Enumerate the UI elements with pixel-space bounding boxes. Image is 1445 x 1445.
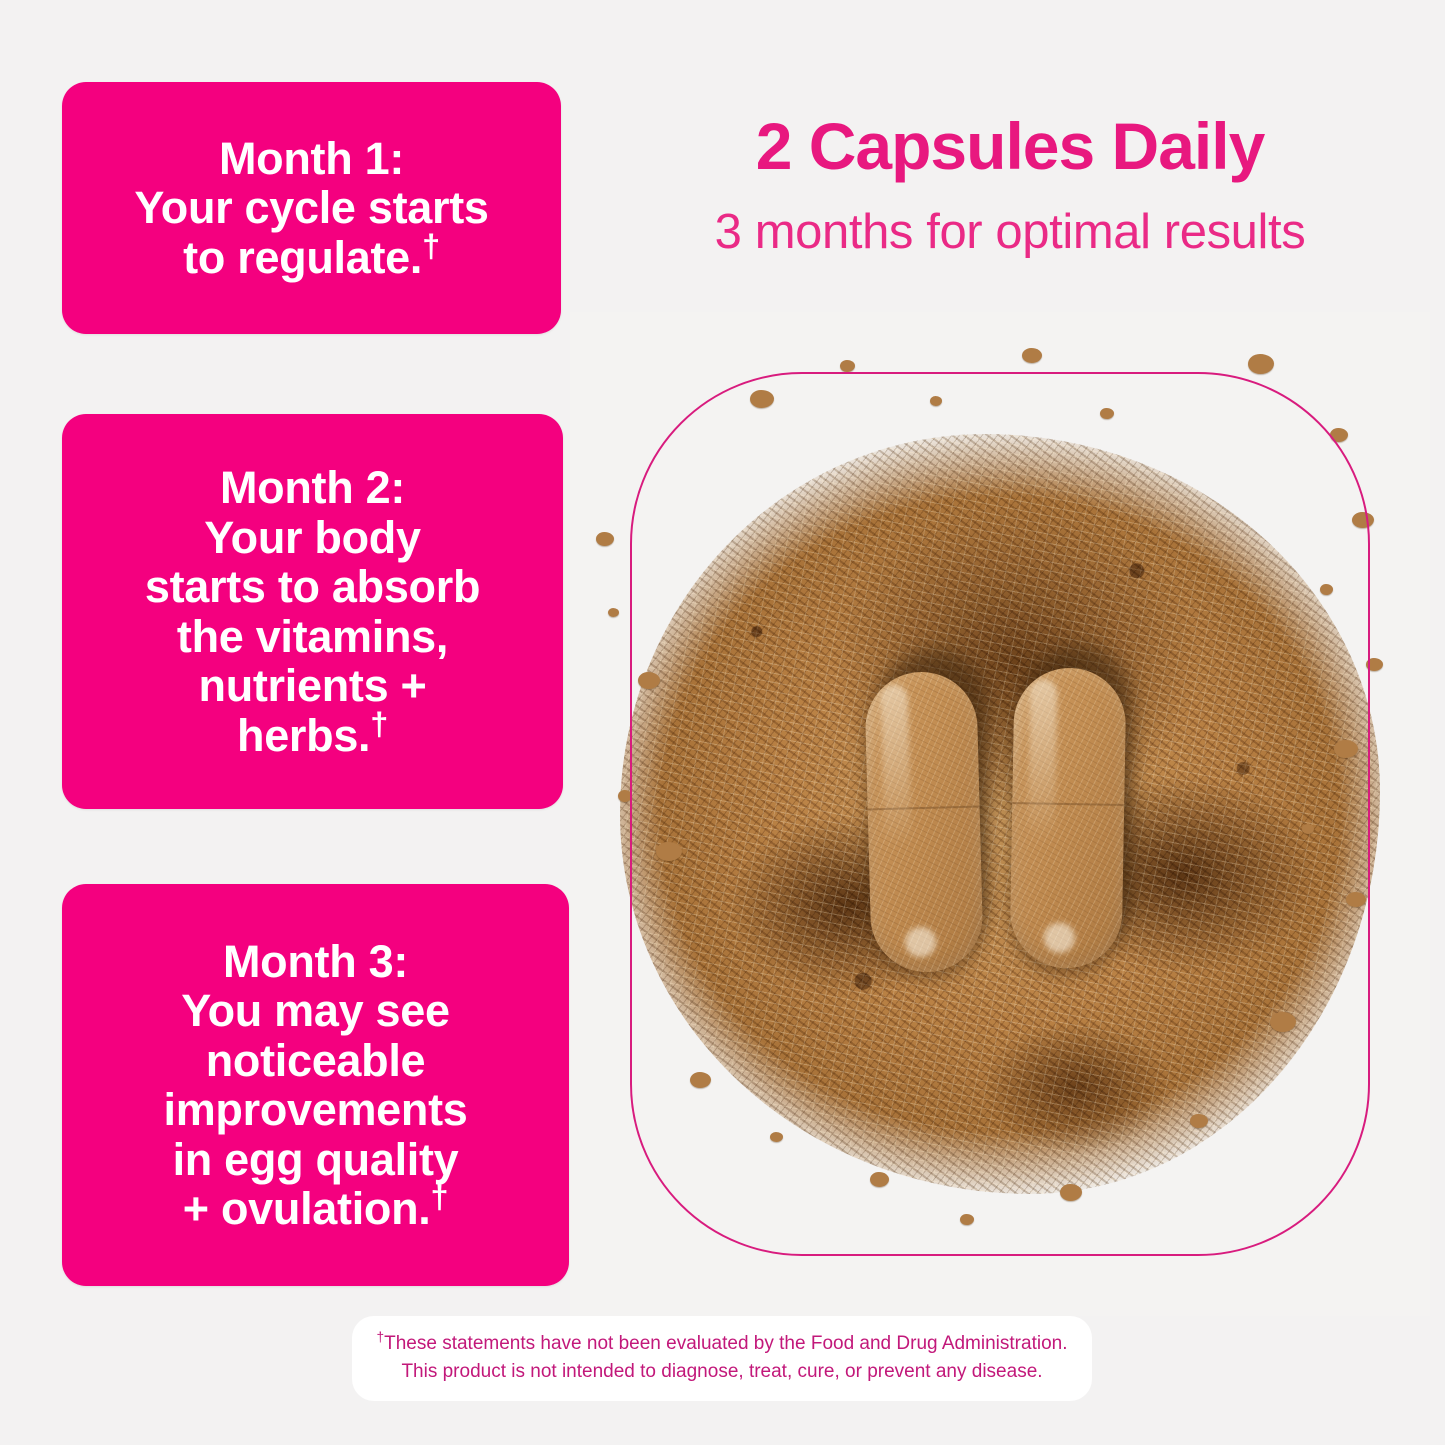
dagger-icon: † — [430, 1179, 448, 1215]
month-1-card: Month 1: Your cycle starts to regulate.† — [62, 82, 561, 334]
product-photo — [630, 372, 1370, 1256]
capsule-highlight — [1027, 679, 1057, 841]
month-3-card: Month 3: You may see noticeable improvem… — [62, 884, 569, 1286]
month-1-text: Month 1: Your cycle starts to regulate.† — [134, 134, 488, 283]
page-subtitle: 3 months for optimal results — [600, 207, 1420, 258]
capsule-highlight — [1043, 923, 1075, 954]
dagger-icon: † — [377, 1330, 385, 1345]
dagger-icon: † — [422, 228, 440, 264]
capsule-left — [864, 671, 984, 974]
promo-graphic: Month 1: Your cycle starts to regulate.†… — [0, 0, 1445, 1445]
dagger-icon: † — [370, 706, 388, 742]
capsule-highlight — [880, 684, 911, 847]
fda-disclaimer: †These statements have not been evaluate… — [352, 1316, 1092, 1401]
disclaimer-line-1: †These statements have not been evaluate… — [372, 1330, 1072, 1358]
headline-block: 2 Capsules Daily 3 months for optimal re… — [600, 112, 1420, 259]
month-2-text: Month 2: Your body starts to absorb the … — [145, 463, 480, 760]
capsule-right — [1009, 667, 1126, 969]
disclaimer-line-2: This product is not intended to diagnose… — [372, 1358, 1072, 1386]
month-2-card: Month 2: Your body starts to absorb the … — [62, 414, 563, 809]
page-title: 2 Capsules Daily — [600, 112, 1420, 181]
month-3-text: Month 3: You may see noticeable improvem… — [164, 937, 468, 1234]
